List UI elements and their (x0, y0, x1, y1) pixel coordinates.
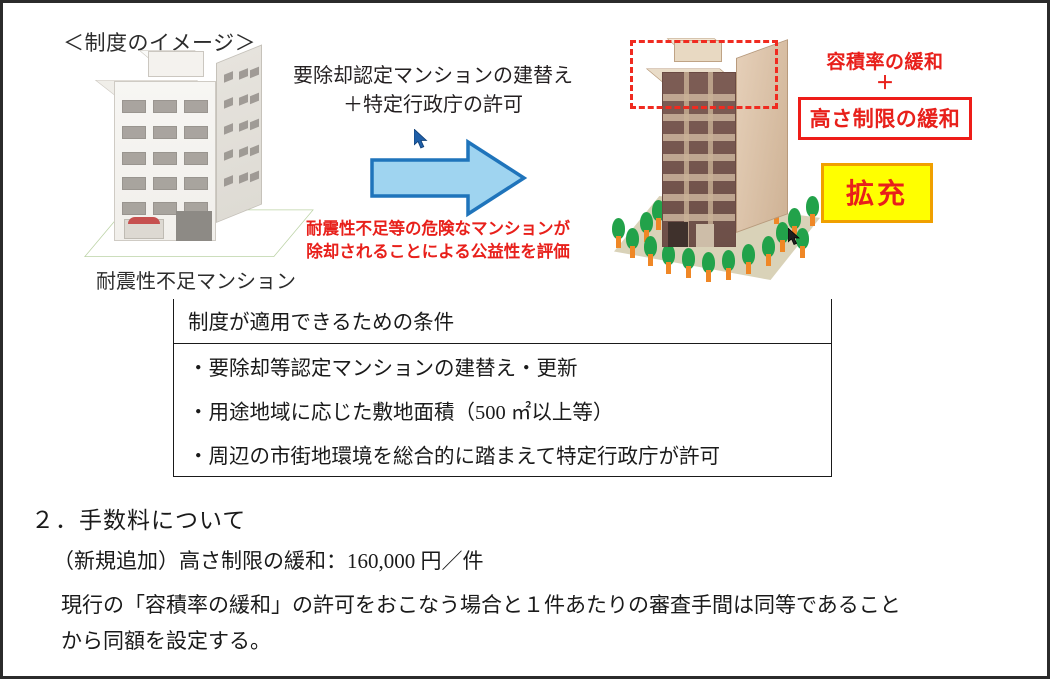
tree-icon (662, 244, 675, 274)
fee-amount-line: （新規追加）高さ制限の緩和：160,000 円／件 (53, 545, 1021, 575)
building-entrance-side (696, 224, 714, 247)
document-page: ＜制度のイメージ＞ (0, 0, 1050, 679)
center-explanation: 要除却認定マンションの建替え ＋特定行政庁の許可 (283, 61, 583, 119)
building-floor (118, 95, 212, 113)
center-explanation-line-1: 要除却認定マンションの建替え (283, 61, 583, 90)
tree-icon (702, 252, 715, 282)
building-entrance (668, 222, 688, 247)
public-benefit-note-line-2: 除却されることによる公益性を評価 (285, 240, 591, 263)
mouse-cursor (414, 129, 430, 156)
tree-icon (806, 196, 819, 226)
table-row: ・周辺の市街地環境を総合的に踏まえて特定行政庁が許可 (174, 432, 831, 476)
fee-rationale-line-1: 現行の「容積率の緩和」の許可をおこなう場合と１件あたりの審査手間は同等であること (61, 587, 1021, 623)
height-relaxation-highlight-box (630, 40, 778, 109)
existing-building-illustration (78, 51, 283, 263)
penthouse-box (148, 51, 204, 77)
existing-building-caption: 耐震性不足マンション (96, 265, 296, 294)
expansion-badge: 拡充 (821, 163, 933, 223)
building-base-shade (176, 211, 212, 241)
entrance-canopy (128, 217, 160, 224)
tree-icon (644, 236, 657, 266)
plus-symbol: ＋ (785, 74, 985, 95)
right-arrow-icon (368, 138, 528, 218)
far-relaxation-label: 容積率の緩和 (785, 47, 985, 74)
building-side-face (216, 44, 262, 223)
fee-rationale-line-2: から同額を設定する。 (61, 623, 1021, 659)
building-floor (118, 121, 212, 139)
fee-section: ２．手数料について （新規追加）高さ制限の緩和：160,000 円／件 現行の「… (31, 501, 1021, 659)
building-floor (118, 172, 212, 190)
section-heading: ２．手数料について (31, 501, 1021, 535)
center-explanation-line-2: ＋特定行政庁の許可 (283, 90, 583, 119)
tree-icon (612, 218, 625, 248)
conditions-table-header: 制度が適用できるための条件 (174, 299, 831, 344)
tree-icon (762, 236, 775, 266)
public-benefit-note-line-1: 耐震性不足等の危険なマンションが (285, 217, 591, 240)
mouse-cursor (788, 228, 802, 252)
conditions-table: 制度が適用できるための条件 ・要除却等認定マンションの建替え・更新 ・用途地域に… (173, 299, 832, 477)
relaxation-labels: 容積率の緩和 ＋ 高さ制限の緩和 (785, 47, 985, 140)
public-benefit-note: 耐震性不足等の危険なマンションが 除却されることによる公益性を評価 (285, 217, 591, 264)
tree-icon (626, 228, 639, 258)
tree-icon (722, 250, 735, 280)
building-floor (118, 147, 212, 165)
tree-icon (682, 248, 695, 278)
tree-icon (742, 244, 755, 274)
table-row: ・用途地域に応じた敷地面積（500 ㎡以上等） (174, 388, 831, 432)
height-relaxation-label: 高さ制限の緩和 (798, 97, 973, 140)
table-row: ・要除却等認定マンションの建替え・更新 (174, 344, 831, 388)
